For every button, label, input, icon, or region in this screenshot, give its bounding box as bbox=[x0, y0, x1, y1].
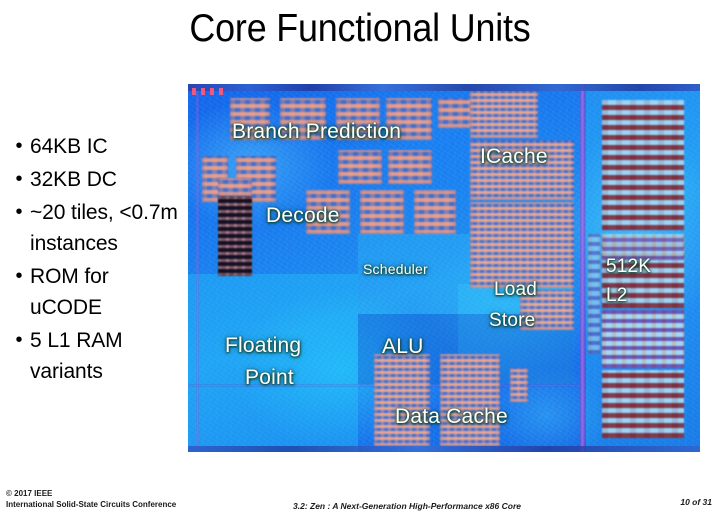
die-label-l2: L2 bbox=[606, 285, 628, 307]
footer-copyright-line2: International Solid-State Circuits Confe… bbox=[6, 500, 176, 511]
icache-array-block bbox=[470, 90, 538, 138]
bus-stripe-vertical bbox=[196, 84, 199, 452]
list-item: • 64KB IC bbox=[8, 131, 184, 162]
die-label-branch-prediction: Branch Prediction bbox=[232, 120, 401, 144]
die-bottom-edge bbox=[188, 446, 700, 452]
list-item-label: 64KB IC bbox=[30, 131, 108, 162]
list-item: • 32KB DC bbox=[8, 164, 184, 195]
die-label-alu: ALU bbox=[382, 335, 423, 359]
die-label-floating: Floating bbox=[225, 334, 301, 358]
die-label-scheduler: Scheduler bbox=[363, 261, 428, 277]
region-floating-point bbox=[188, 274, 358, 452]
bullet-marker-icon: • bbox=[8, 164, 30, 195]
bullet-list: • 64KB IC • 32KB DC • ~20 tiles, <0.7m i… bbox=[8, 131, 184, 389]
footer-copyright: © 2017 IEEE International Solid-State Ci… bbox=[6, 489, 176, 510]
bullet-marker-icon: • bbox=[8, 197, 30, 228]
l2-macro-array bbox=[602, 370, 684, 438]
list-item-label: 32KB DC bbox=[30, 164, 117, 195]
microcode-rom-block bbox=[218, 196, 252, 276]
bullet-marker-icon: • bbox=[8, 325, 30, 356]
die-photo-image: Branch Prediction ICache Decode Schedule… bbox=[188, 84, 700, 452]
bullet-marker-icon: • bbox=[8, 131, 30, 162]
list-item: • ROM for uCODE bbox=[8, 261, 184, 323]
die-label-decode: Decode bbox=[266, 204, 340, 228]
die-label-point: Point bbox=[245, 366, 294, 390]
list-item: • 5 L1 RAM variants bbox=[8, 325, 184, 387]
die-top-edge bbox=[188, 84, 700, 91]
die-label-load: Load bbox=[494, 279, 537, 301]
page-title: Core Functional Units bbox=[29, 6, 691, 52]
list-item-label: 5 L1 RAM variants bbox=[30, 325, 184, 387]
die-label-icache: ICache bbox=[480, 145, 548, 169]
footer-page-number: 10 of 31 bbox=[680, 497, 712, 507]
data-cache-array-block bbox=[510, 368, 528, 402]
sram-array-block bbox=[414, 190, 456, 234]
footer-copyright-line1: © 2017 IEEE bbox=[6, 489, 176, 500]
l2-periphery-array bbox=[602, 310, 684, 368]
die-label-512k: 512K bbox=[606, 256, 651, 278]
icache-array-block bbox=[470, 202, 574, 288]
sram-array-block bbox=[338, 150, 382, 184]
list-item: • ~20 tiles, <0.7m instances bbox=[8, 197, 184, 259]
data-cache-array-block bbox=[374, 354, 430, 446]
footer-session-title: 3.2: Zen : A Next-Generation High-Perfor… bbox=[293, 501, 521, 511]
sram-array-block bbox=[388, 150, 432, 184]
bus-stripe-vertical bbox=[580, 84, 585, 452]
sram-array-block bbox=[360, 190, 404, 234]
sram-array-block bbox=[218, 178, 252, 196]
l2-periphery-array bbox=[588, 234, 600, 354]
list-item-label: ROM for uCODE bbox=[30, 261, 184, 323]
die-label-data-cache: Data Cache bbox=[395, 405, 508, 429]
die-corner-marks bbox=[192, 88, 226, 95]
data-cache-array-block bbox=[440, 354, 500, 446]
bullet-marker-icon: • bbox=[8, 261, 30, 292]
l2-macro-array bbox=[602, 100, 684, 230]
die-label-store: Store bbox=[489, 310, 535, 332]
list-item-label: ~20 tiles, <0.7m instances bbox=[30, 197, 184, 259]
